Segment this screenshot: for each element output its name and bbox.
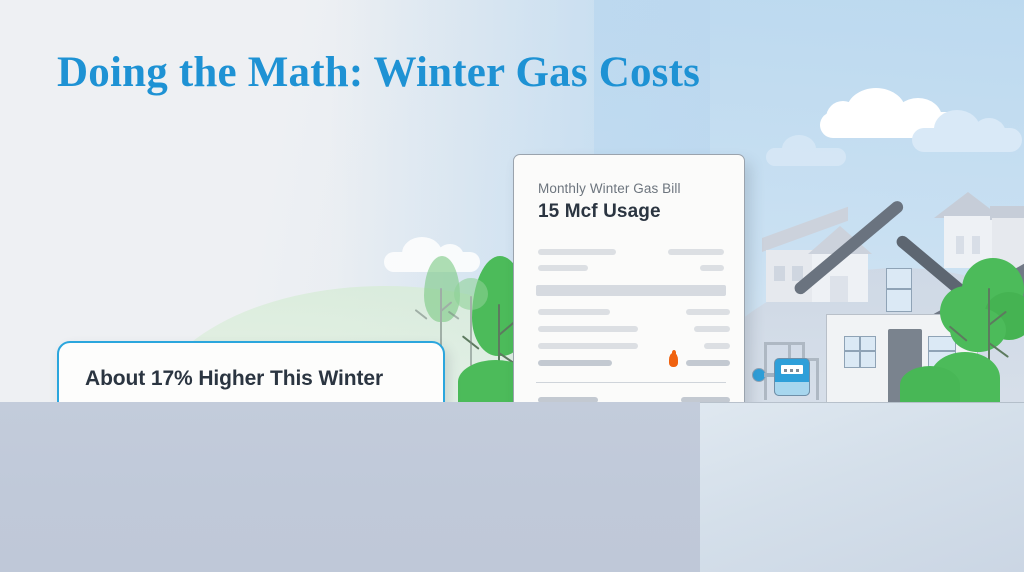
- bill-line-amount: [686, 360, 730, 366]
- ground-right-band: [700, 402, 1024, 572]
- bill-line: [694, 326, 730, 332]
- page-title: Doing the Math: Winter Gas Costs: [57, 48, 700, 97]
- callout-heading: About 17% Higher This Winter: [85, 367, 417, 391]
- bill-section-band: [536, 285, 726, 296]
- bill-line: [538, 265, 588, 271]
- illustration-stage: Monthly Winter Gas Bill 15 Mcf Usage Abo…: [0, 0, 1024, 572]
- bill-line: [538, 249, 616, 255]
- bill-line: [704, 343, 730, 349]
- bill-line: [686, 309, 730, 315]
- bill-line: [538, 326, 638, 332]
- gas-meter-icon: [752, 336, 832, 404]
- cloud-icon: [912, 128, 1022, 152]
- bill-line-total: [538, 360, 612, 366]
- bill-line: [668, 249, 724, 255]
- bush-icon: [900, 366, 960, 404]
- flame-icon: [669, 353, 678, 367]
- bill-line: [538, 343, 638, 349]
- bill-heading: 15 Mcf Usage: [538, 201, 720, 223]
- bill-divider: [536, 382, 726, 383]
- bill-subtitle: Monthly Winter Gas Bill: [538, 181, 720, 196]
- bill-line: [538, 309, 610, 315]
- bill-line: [700, 265, 724, 271]
- tree-icon: [450, 278, 492, 378]
- ground-line: [700, 402, 1024, 403]
- cloud-icon: [766, 148, 846, 166]
